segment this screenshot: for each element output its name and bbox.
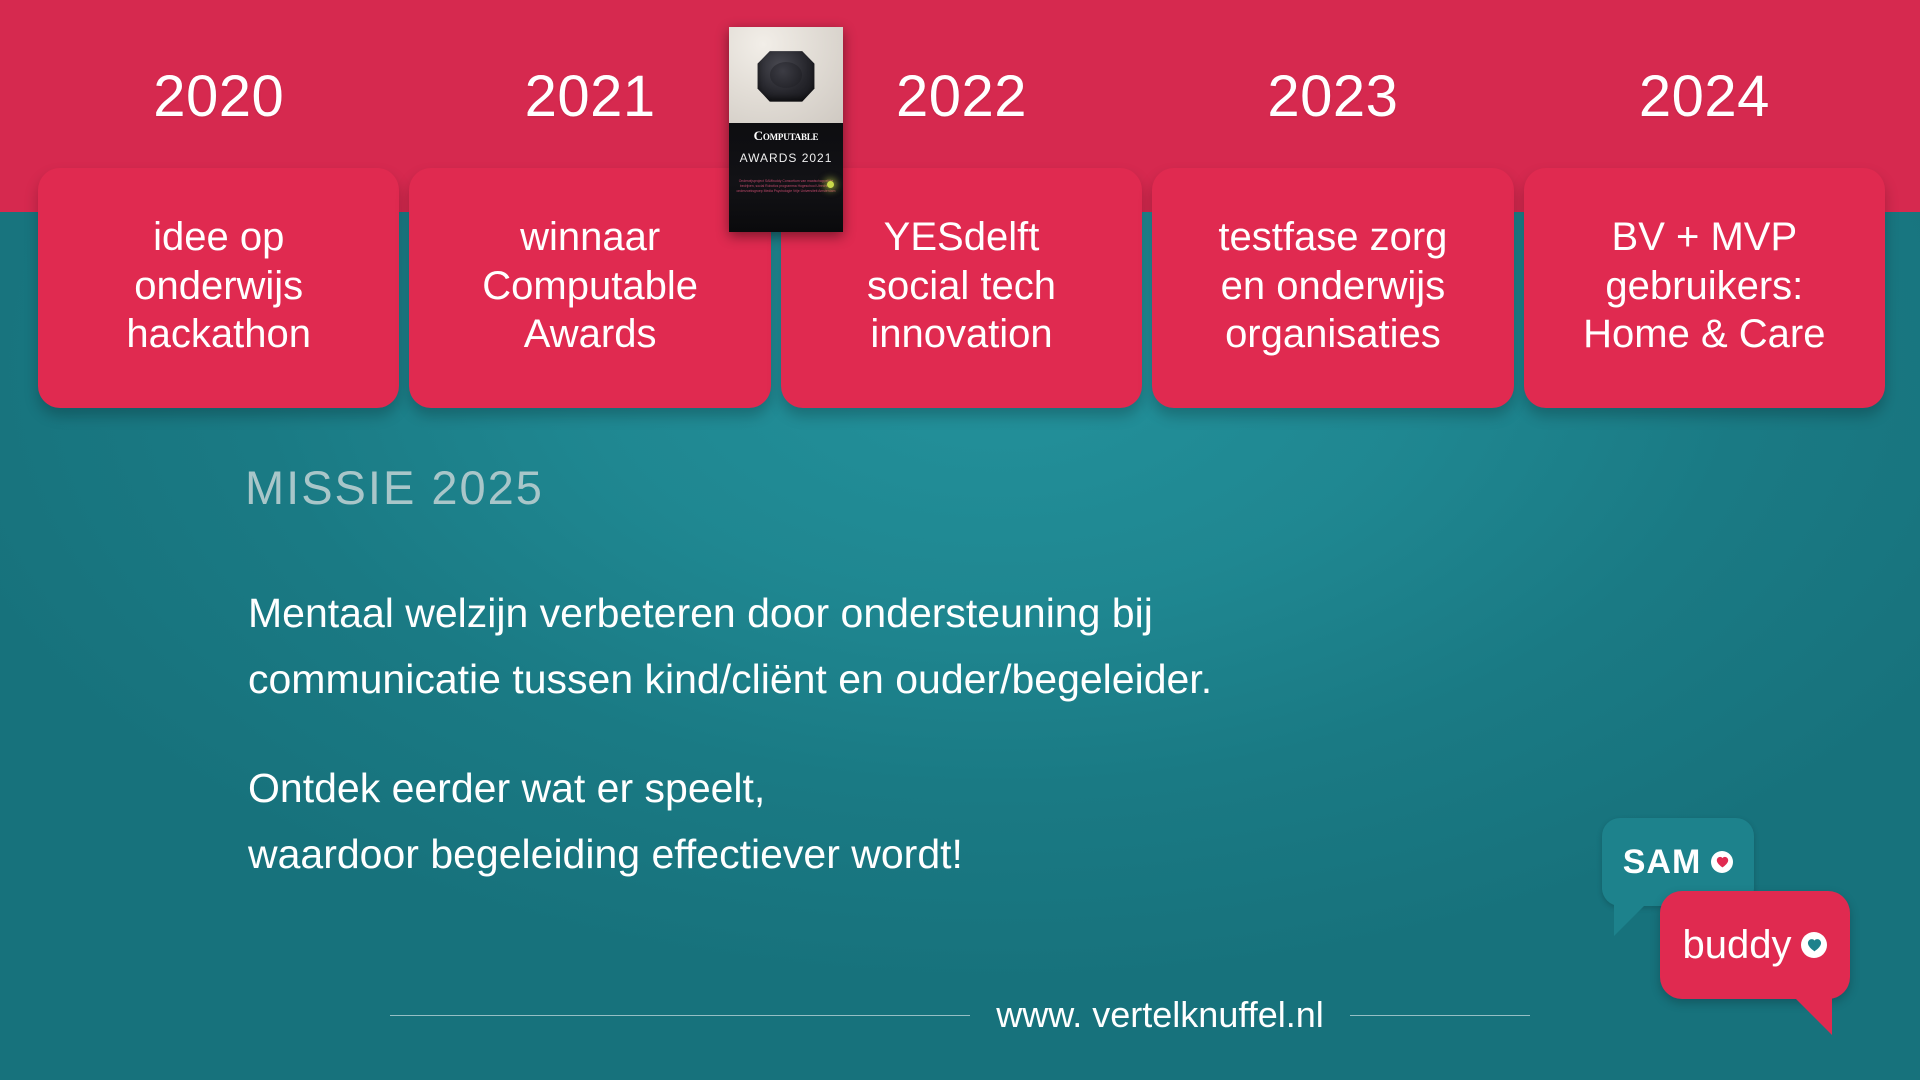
buddy-label: buddy (1683, 923, 1792, 968)
mission-paragraph-2: Ontdek eerder wat er speelt, waardoor be… (248, 755, 1548, 888)
slide-root: 2020 2021 2022 2023 2024 idee op onderwi… (0, 0, 1920, 1080)
timeline-year-row: 2020 2021 2022 2023 2024 (38, 52, 1885, 142)
timeline-card-2023[interactable]: testfase zorg en onderwijs organisaties (1152, 168, 1513, 408)
mission-paragraph-1: Mentaal welzijn verbeteren door onderste… (248, 580, 1548, 713)
heart-icon (1711, 851, 1733, 873)
award-light-glow (827, 181, 834, 188)
computable-award-photo: Computable AWARDS 2021 Onderwijsproject … (729, 27, 843, 232)
timeline-card-label: winnaar Computable Awards (482, 213, 698, 359)
timeline-card-2020[interactable]: idee op onderwijs hackathon (38, 168, 399, 408)
timeline-year-2023: 2023 (1152, 52, 1513, 142)
timeline-year-2021: 2021 (409, 52, 770, 142)
award-subtitle-text: AWARDS 2021 (729, 151, 843, 165)
award-photo-upper (729, 27, 843, 123)
mission-body: Mentaal welzijn verbeteren door onderste… (248, 580, 1548, 888)
footer-rule-right (1350, 1015, 1530, 1016)
timeline-card-2024[interactable]: BV + MVP gebruikers: Home & Care (1524, 168, 1885, 408)
mission-heading: MISSIE 2025 (245, 460, 544, 515)
timeline-year-2020: 2020 (38, 52, 399, 142)
sam-buddy-logo[interactable]: SAM buddy (1600, 818, 1860, 1053)
timeline-card-label: YESdelft social tech innovation (867, 213, 1056, 359)
heart-icon (1801, 932, 1827, 958)
timeline-card-row: idee op onderwijs hackathon winnaar Comp… (38, 168, 1885, 408)
award-brand-text: Computable (729, 128, 843, 144)
timeline-card-label: testfase zorg en onderwijs organisaties (1218, 213, 1447, 359)
buddy-speech-bubble: buddy (1660, 891, 1850, 999)
timeline-year-2024: 2024 (1524, 52, 1885, 142)
timeline-card-label: idee op onderwijs hackathon (126, 213, 311, 359)
timeline-card-label: BV + MVP gebruikers: Home & Care (1583, 213, 1825, 359)
footer-rule-left (390, 1015, 970, 1016)
trophy-icon (757, 50, 815, 102)
sam-label: SAM (1623, 843, 1702, 882)
timeline-card-2021[interactable]: winnaar Computable Awards (409, 168, 770, 408)
website-url[interactable]: www. vertelknuffel.nl (996, 994, 1323, 1036)
award-fine-print: Onderwijsproject SAMbuddy Consortium van… (735, 179, 837, 195)
